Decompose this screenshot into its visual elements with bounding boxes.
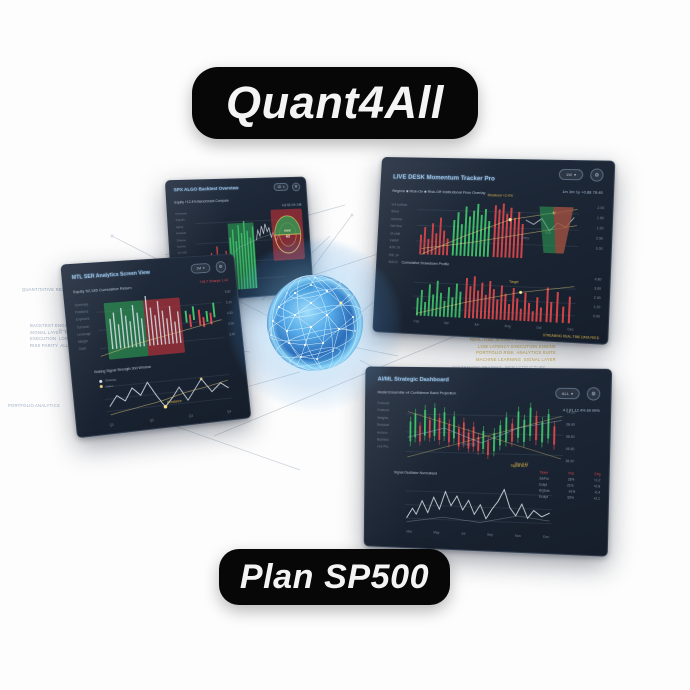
annotation-signal: Signal BUY xyxy=(511,464,528,468)
axis-tick: 48.80 xyxy=(566,447,575,451)
chevron-down-icon: ▾ xyxy=(571,391,573,396)
globe-container xyxy=(252,262,378,388)
sidebar-item[interactable]: Backtest xyxy=(377,438,389,442)
panel-sidebar[interactable]: Summary Positions Exposure Turnover Leve… xyxy=(74,302,92,351)
axis-tick: 0.00 xyxy=(596,247,603,251)
panel-mid-left[interactable]: MTL SER Analytics Screen View Equity 52,… xyxy=(60,254,251,439)
axis-tick: Nov xyxy=(515,534,521,538)
sidebar-item[interactable]: Vol 30d xyxy=(177,250,189,255)
panel-subtitle: Equity 52,185 Cumulative Return xyxy=(73,285,132,294)
metric-change: +18.7 Sharpe 1.42 xyxy=(199,278,228,284)
chevron-down-icon: ▾ xyxy=(283,185,285,189)
axis-tick: Dec xyxy=(567,327,573,331)
timeframe-pill[interactable]: 1D ▾ xyxy=(273,183,288,191)
sidebar-item[interactable]: Overview xyxy=(175,211,187,216)
sidebar-item[interactable]: Sharpe xyxy=(177,237,189,242)
hero-graphic: QUANTITATIVE RESEARCH BACKTEST ENGINE MU… xyxy=(0,0,690,690)
axis-tick: 68.40 xyxy=(566,423,575,427)
axis-tick: Dec xyxy=(543,535,549,539)
panel-metrics: +18.7 Sharpe 1.42 xyxy=(199,278,228,284)
timeframe-pill[interactable]: 1W ▾ xyxy=(559,169,584,180)
axis-tick: 1.50 xyxy=(597,216,604,220)
timeframe-label: 1M xyxy=(196,266,201,270)
gear-icon: ⚙ xyxy=(219,264,223,270)
sidebar-item[interactable]: Net flow xyxy=(390,224,406,228)
wireframe-network-globe xyxy=(265,273,365,373)
y-axis-upper: 2.00 1.50 1.00 0.50 0.00 xyxy=(596,206,605,251)
axis-tick: 0.00 xyxy=(593,314,600,318)
table-header-row: Ticker Pos Chg xyxy=(539,471,600,477)
sidebar-item[interactable]: OI shift xyxy=(390,231,406,235)
table-row[interactable]: RQDxb 41% -0.4 xyxy=(539,489,600,495)
axis-tick: Q3 xyxy=(189,414,193,418)
panel-title: LIVE DESK Momentum Tracker Pro xyxy=(393,174,495,183)
chart-area-upper: ATH 4789 Stop 5.42 xyxy=(405,398,564,474)
axis-tick: Q4 xyxy=(227,409,231,413)
table-row[interactable]: Eclipt 21% +0.8 xyxy=(539,483,600,489)
sidebar-item[interactable]: Leverage xyxy=(77,331,91,336)
column-header: Ticker xyxy=(539,471,548,475)
panel-sidebar[interactable]: Forecast Features Weights Residual Horiz… xyxy=(377,401,389,449)
sidebar-item[interactable]: Gamma xyxy=(391,217,407,221)
panel2-title: Cumulative Drawdown Profile xyxy=(402,260,450,266)
y-axis-lower: 4.80 3.60 2.40 1.20 0.00 xyxy=(593,277,601,318)
axis-tick: 5.80 xyxy=(225,290,231,294)
drawdown-series xyxy=(412,270,577,326)
axis-tick: Feb xyxy=(414,319,420,323)
panel-bottom-right[interactable]: AI/ML Strategic Dashboard Model Ensemble… xyxy=(364,367,612,557)
cell-chg: +0.8 xyxy=(594,484,601,488)
axis-tick: Jun xyxy=(474,322,480,326)
timeframe-label: 1D xyxy=(277,185,281,189)
panel-top-right[interactable]: LIVE DESK Momentum Tracker Pro Regime ■ … xyxy=(372,157,615,345)
chart-area-lower xyxy=(405,479,553,534)
timeframe-label: 1W xyxy=(566,172,572,177)
panel-title: SPX ALGO Backtest Overview xyxy=(173,185,238,192)
axis-tick: Mar xyxy=(406,529,412,533)
oscillator-series xyxy=(405,479,553,534)
cell-ticker: RQDxb xyxy=(539,489,550,493)
sidebar-item[interactable]: Weights xyxy=(377,416,389,420)
sidebar-item[interactable]: ATR 14 xyxy=(389,246,405,250)
candlestick-series xyxy=(405,398,564,474)
sidebar-item[interactable]: Residual xyxy=(377,423,389,427)
sidebar-item[interactable]: RSI 14 xyxy=(389,253,405,258)
panel-title: MTL SER Analytics Screen View xyxy=(72,270,151,281)
axis-tick: 38.00 xyxy=(565,459,574,463)
annotation-ath: ATH 4789 xyxy=(462,442,476,446)
y-axis-upper: 74.20 68.40 58.60 48.80 38.00 xyxy=(565,410,575,463)
sidebar-item[interactable]: Drawdn xyxy=(176,231,188,236)
cell-pos: 18% xyxy=(568,477,575,481)
axis-tick: Aug xyxy=(504,324,510,328)
axis-tick: 1.00 xyxy=(597,226,604,230)
panel-subtitle: Regime ■ Risk-On ■ Risk-Off Institutiona… xyxy=(392,188,485,195)
gear-icon-button[interactable]: ⚙ xyxy=(590,168,604,181)
gear-icon-button[interactable]: ⚙ xyxy=(587,387,601,401)
sidebar-item[interactable]: Summary xyxy=(74,302,88,307)
axis-tick: 74.20 xyxy=(566,410,575,414)
axis-tick: 58.60 xyxy=(566,435,575,439)
brand-title: Quant4All xyxy=(226,77,444,129)
brand-badge-top: Quant4All xyxy=(192,67,478,139)
cell-chg: -0.4 xyxy=(594,490,600,494)
axis-tick: 1.20 xyxy=(593,305,600,309)
plan-title: Plan SP500 xyxy=(240,558,429,597)
plan-badge-bottom: Plan SP500 xyxy=(219,549,450,605)
chart-area-lower: Target xyxy=(412,270,577,326)
table-row[interactable]: SAPrd 18% +1.2 xyxy=(539,477,600,483)
annotation-target: Target xyxy=(509,280,519,284)
column-header: Chg xyxy=(594,472,600,476)
column-header: Pos xyxy=(568,471,574,475)
axis-tick: 5.20 xyxy=(226,300,232,304)
sidebar-item[interactable]: Skew xyxy=(391,210,407,214)
panel-title: AI/ML Strategic Dashboard xyxy=(378,377,449,384)
timeframe-label: ALL xyxy=(562,391,569,396)
annotation-breakout: Breakout +2.4% xyxy=(488,193,513,198)
status-note: STREAMING REAL-TIME DATA FEED xyxy=(543,333,599,340)
panel-sidebar[interactable]: Vol surface Skew Gamma Net flow OI shift… xyxy=(388,203,407,265)
axis-tick: 2.40 xyxy=(594,296,601,300)
axis-tick: Oct xyxy=(536,326,541,330)
axis-tick: Q2 xyxy=(150,418,155,423)
sidebar-item[interactable]: Live PnL xyxy=(377,445,389,449)
sidebar-item[interactable]: Features xyxy=(377,408,389,412)
chevron-down-icon: ▾ xyxy=(203,266,205,270)
chevron-down-icon: ▾ xyxy=(574,172,576,177)
axis-tick: 3.60 xyxy=(594,286,601,290)
cell-pos: 52% xyxy=(567,496,574,500)
axis-tick: 0.50 xyxy=(596,236,603,240)
sidebar-item[interactable]: Cash xyxy=(79,346,93,351)
sidebar-item[interactable]: Positions xyxy=(75,310,89,315)
axis-tick: Jul xyxy=(461,532,465,536)
sidebar-item[interactable]: Signals xyxy=(175,218,187,223)
sidebar-item[interactable]: Exposure xyxy=(76,317,90,322)
gear-icon: ⚙ xyxy=(294,185,297,189)
sidebar-item[interactable]: VWAP xyxy=(390,238,406,242)
cell-pos: 41% xyxy=(569,490,576,494)
axis-tick: Apr xyxy=(444,321,449,325)
panel-metrics: 1m 3m 1y +0.88 78.40 xyxy=(562,189,603,195)
sidebar-item[interactable]: Sortino xyxy=(177,244,189,249)
sidebar-item[interactable]: Margin xyxy=(78,339,92,344)
cell-chg: +2.1 xyxy=(593,496,600,500)
bg-text-left-foot: PORTFOLIO ANALYTICS xyxy=(8,403,60,410)
gear-icon-button[interactable]: ⚙ xyxy=(292,182,301,191)
cell-ticker: Evolpt xyxy=(539,495,548,499)
axis-tick: May xyxy=(433,531,439,535)
axis-tick: 4.80 xyxy=(594,277,601,281)
cell-chg: +1.2 xyxy=(594,478,601,482)
axis-tick: 2.00 xyxy=(597,206,604,210)
timeframe-pill[interactable]: 1M ▾ xyxy=(190,263,211,274)
forecast-cone xyxy=(533,204,577,256)
sidebar-item[interactable]: Forecast xyxy=(377,401,389,405)
sidebar-item[interactable]: Alpha xyxy=(176,224,188,229)
timeframe-pill[interactable]: ALL ▾ xyxy=(555,388,580,400)
cell-ticker: Eclipt xyxy=(539,483,547,487)
holdings-table[interactable]: Ticker Pos Chg SAPrd 18% +1.2 Eclipt 21%… xyxy=(539,471,600,501)
annotation-entry: Entry xyxy=(521,236,529,240)
sidebar-item[interactable]: Horizon xyxy=(377,430,389,434)
panel2-title: Signal Oscillator Normalised xyxy=(394,470,437,475)
chart-area-upper xyxy=(95,288,227,364)
cell-ticker: SAPrd xyxy=(539,477,548,481)
cell-pos: 21% xyxy=(567,483,574,487)
gear-icon: ⚙ xyxy=(594,172,599,178)
sidebar-item[interactable]: Turnover xyxy=(76,324,90,329)
candle-series xyxy=(95,288,227,364)
gear-icon: ⚙ xyxy=(591,391,596,397)
axis-tick: Q1 xyxy=(109,423,114,428)
panel-metrics: 4.8 92.1% 148 xyxy=(282,203,302,208)
panel-subtitle: Model Ensemble v4 Confidence Band Projec… xyxy=(378,390,457,395)
sidebar-item[interactable]: Vol surface xyxy=(391,203,407,207)
gear-icon-button[interactable]: ⚙ xyxy=(215,261,227,273)
panel-sidebar[interactable]: Overview Signals Alpha Drawdn Sharpe Sor… xyxy=(175,211,190,262)
panel-subtitle: Equity +12.4% Benchmark Compare xyxy=(174,199,229,205)
axis-tick: Sep xyxy=(487,533,493,537)
